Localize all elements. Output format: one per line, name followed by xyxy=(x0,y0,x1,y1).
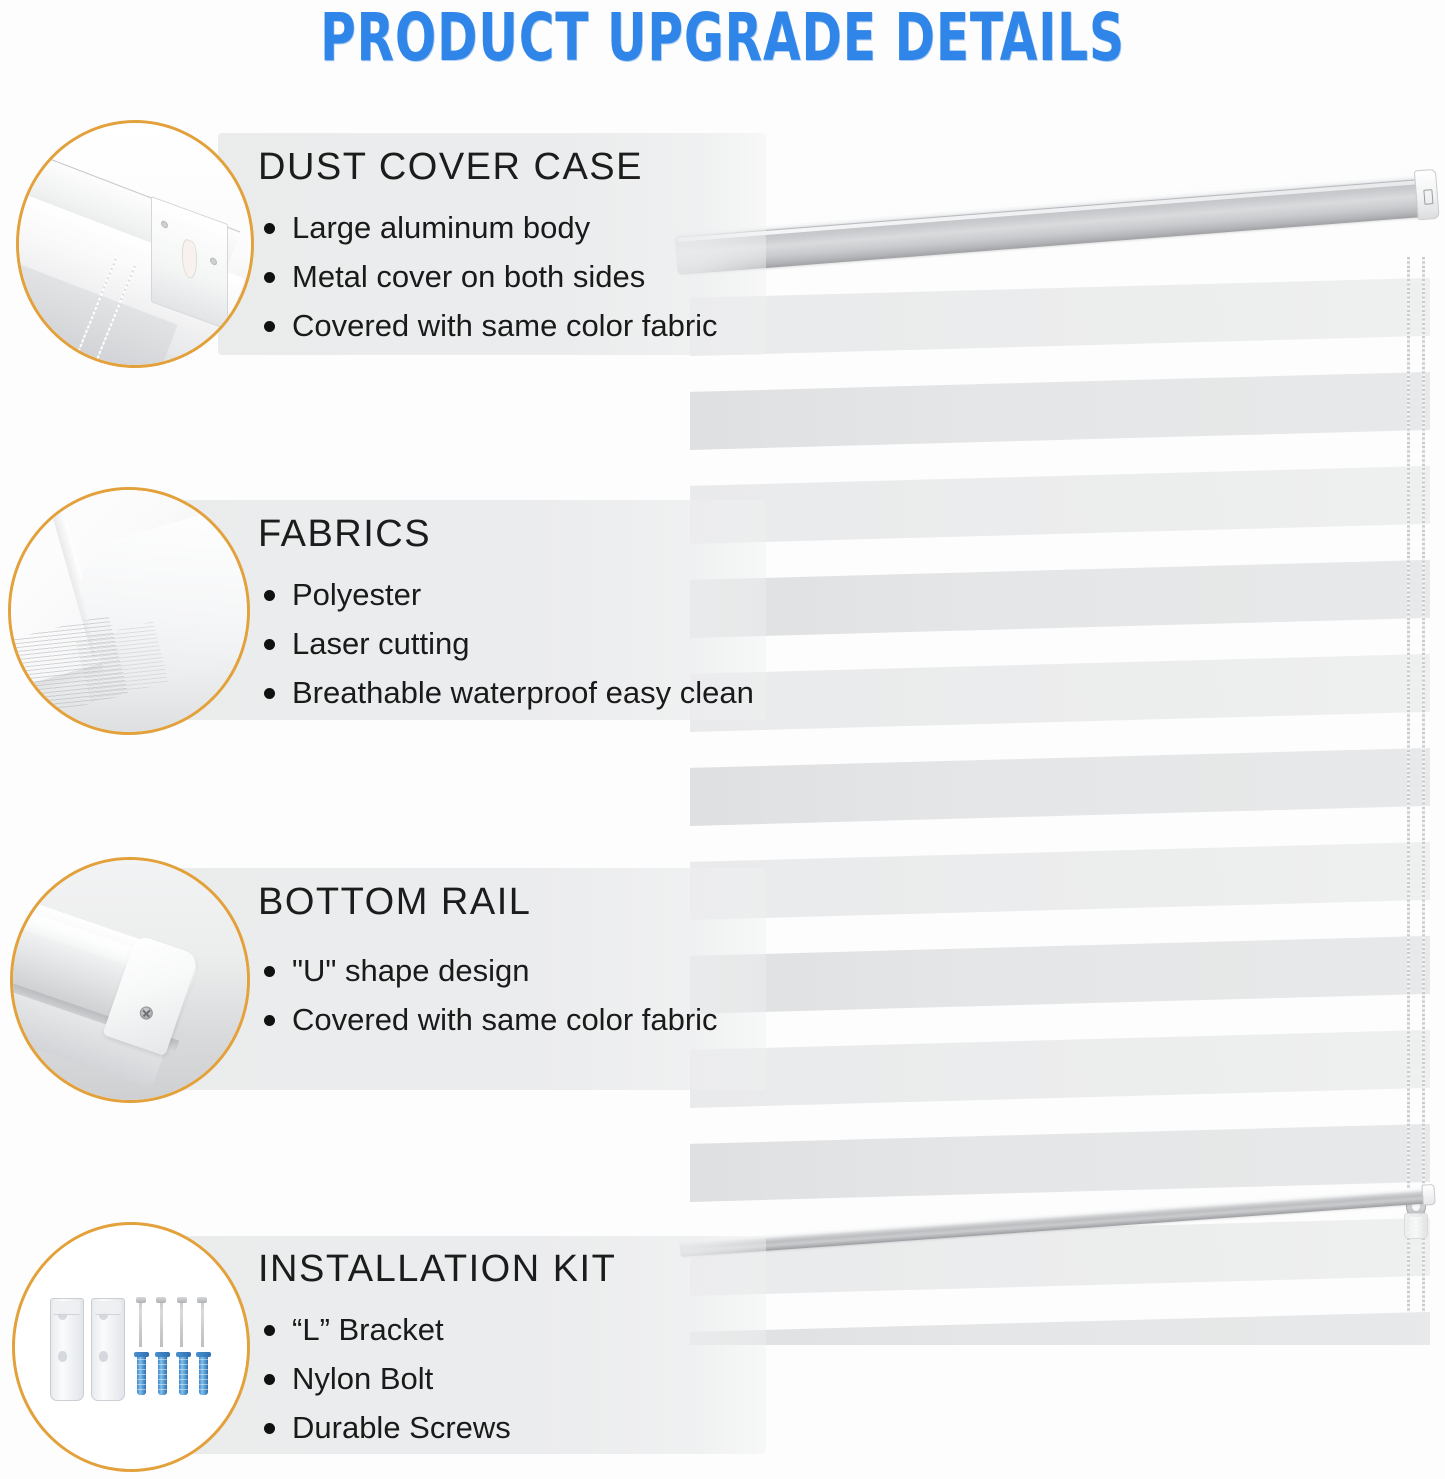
headrail-endcap xyxy=(1414,169,1440,221)
feature-text-block: DUST COVER CASE Large aluminum body Meta… xyxy=(258,146,718,350)
list-item: Polyester xyxy=(258,570,754,619)
list-item: Large aluminum body xyxy=(258,203,718,252)
bullet-dot-icon xyxy=(264,223,275,234)
list-item: Durable Screws xyxy=(258,1403,616,1452)
bead-chain-left[interactable] xyxy=(1407,257,1410,1312)
l-bracket-icon xyxy=(50,1298,84,1400)
bottom-rail-endcap xyxy=(1421,1184,1435,1206)
aluminum-head-rail-photo xyxy=(16,120,254,368)
feature-bullet-list: Polyester Laser cutting Breathable water… xyxy=(258,570,754,717)
feature-bottom-rail: BOTTOM RAIL "U" shape design Covered wit… xyxy=(6,855,766,1105)
bullet-dot-icon xyxy=(264,272,275,283)
bullet-dot-icon xyxy=(264,639,275,650)
bullet-dot-icon xyxy=(264,1325,275,1336)
bullet-text: Durable Screws xyxy=(292,1410,511,1445)
list-item: Metal cover on both sides xyxy=(258,252,718,301)
bullet-dot-icon xyxy=(264,1015,275,1026)
bullet-text: Nylon Bolt xyxy=(292,1361,433,1396)
screw-icon xyxy=(139,1300,142,1347)
bullet-dot-icon xyxy=(264,590,275,601)
bullet-text: Metal cover on both sides xyxy=(292,259,645,294)
bullet-dot-icon xyxy=(264,688,275,699)
zebra-striped-fabric xyxy=(690,265,1430,1345)
feature-title: FABRICS xyxy=(258,513,754,556)
bullet-text: "U" shape design xyxy=(292,953,529,988)
feature-bullet-list: "U" shape design Covered with same color… xyxy=(258,946,718,1044)
list-item: Covered with same color fabric xyxy=(258,995,718,1044)
bottom-rail-endcap-photo xyxy=(10,857,250,1103)
feature-dust-cover-case: DUST COVER CASE Large aluminum body Meta… xyxy=(6,120,766,370)
bullet-dot-icon xyxy=(264,1374,275,1385)
feature-title: INSTALLATION KIT xyxy=(258,1248,616,1291)
screw-icon xyxy=(201,1300,204,1347)
installation-hardware-photo xyxy=(12,1222,250,1472)
bullet-text: Laser cutting xyxy=(292,626,470,661)
feature-text-block: FABRICS Polyester Laser cutting Breathab… xyxy=(258,513,754,717)
bullet-dot-icon xyxy=(264,966,275,977)
feature-title: BOTTOM RAIL xyxy=(258,881,718,924)
feature-installation-kit: INSTALLATION KIT “L” Bracket Nylon Bolt … xyxy=(6,1222,766,1472)
feature-text-block: BOTTOM RAIL "U" shape design Covered wit… xyxy=(258,881,718,1044)
page-title: PRODUCT UPGRADE DETAILS xyxy=(130,0,1315,76)
list-item: Laser cutting xyxy=(258,619,754,668)
wall-anchor-icon xyxy=(179,1354,188,1395)
list-item: Nylon Bolt xyxy=(258,1354,616,1403)
feature-text-block: INSTALLATION KIT “L” Bracket Nylon Bolt … xyxy=(258,1248,616,1452)
screw-icon xyxy=(180,1300,183,1347)
wall-anchor-icon xyxy=(199,1354,208,1395)
list-item: Covered with same color fabric xyxy=(258,301,718,350)
feature-fabrics: FABRICS Polyester Laser cutting Breathab… xyxy=(6,487,766,737)
bullet-text: Polyester xyxy=(292,577,421,612)
l-bracket-icon xyxy=(91,1298,125,1400)
bullet-text: Breathable waterproof easy clean xyxy=(292,675,754,710)
wall-anchor-icon xyxy=(137,1354,146,1395)
list-item: “L” Bracket xyxy=(258,1305,616,1354)
bullet-text: Covered with same color fabric xyxy=(292,1002,718,1037)
dust-cover-headrail xyxy=(674,172,1431,275)
screw-icon xyxy=(160,1300,163,1347)
bullet-text: “L” Bracket xyxy=(292,1312,444,1347)
bullet-text: Large aluminum body xyxy=(292,210,590,245)
wall-anchor-icon xyxy=(158,1354,167,1395)
bullet-dot-icon xyxy=(264,1423,275,1434)
bullet-text: Covered with same color fabric xyxy=(292,308,718,343)
zebra-roller-blind xyxy=(676,195,1445,1330)
screw-icon xyxy=(138,1005,155,1022)
bullet-dot-icon xyxy=(264,321,275,332)
bead-chain-right[interactable] xyxy=(1422,257,1425,1312)
feature-title: DUST COVER CASE xyxy=(258,146,718,189)
feature-bullet-list: Large aluminum body Metal cover on both … xyxy=(258,203,718,350)
infographic-page: PRODUCT UPGRADE DETAILS xyxy=(0,0,1445,1479)
list-item: "U" shape design xyxy=(258,946,718,995)
feature-bullet-list: “L” Bracket Nylon Bolt Durable Screws xyxy=(258,1305,616,1452)
list-item: Breathable waterproof easy clean xyxy=(258,668,754,717)
folded-fabric-photo xyxy=(8,487,250,735)
